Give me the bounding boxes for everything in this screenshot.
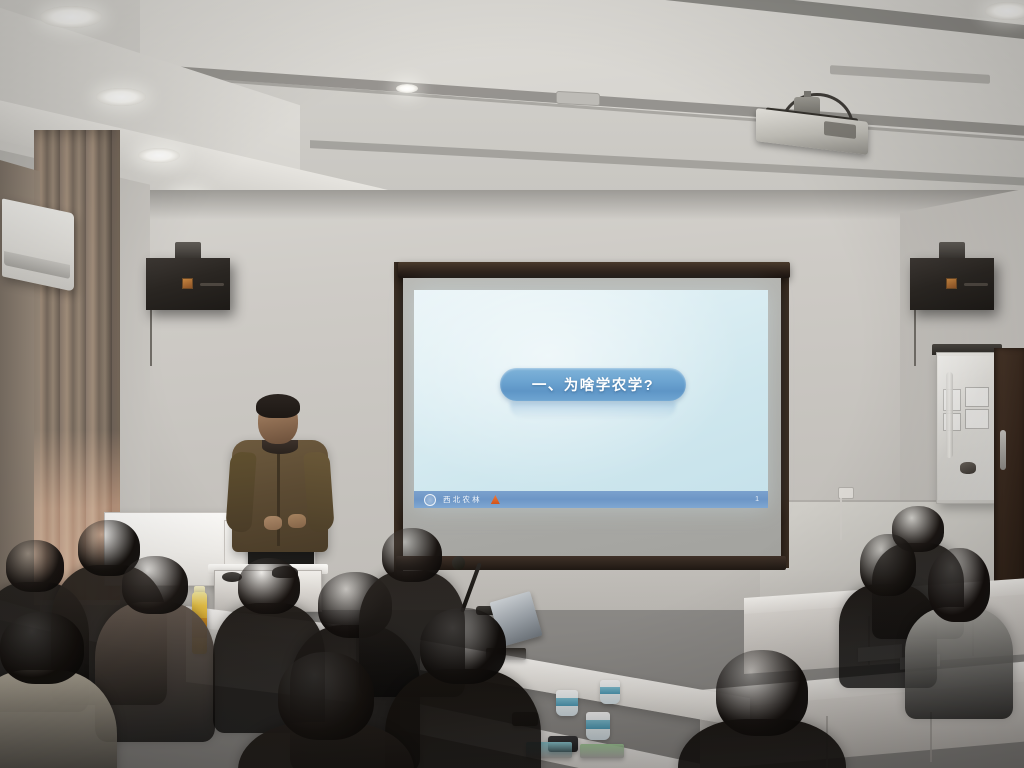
downlight xyxy=(138,148,180,163)
speaker-grille-slot xyxy=(964,283,988,286)
presenter-hair xyxy=(256,394,300,418)
slide-heading-text: 一、为啥学农学? xyxy=(532,374,654,395)
slide-page-number: 1 xyxy=(755,496,759,503)
cabinet-handle[interactable] xyxy=(960,462,976,474)
speaker-led-indicator xyxy=(946,278,957,289)
student-head xyxy=(382,528,442,582)
student-head xyxy=(278,652,374,740)
ceiling-air-vent xyxy=(556,91,600,106)
speaker-cable xyxy=(150,310,152,366)
outlet-cable xyxy=(840,498,842,540)
downlight xyxy=(985,2,1024,20)
student-head xyxy=(0,612,84,684)
classroom-photo-scene: 一、为啥学农学? 西北农林 1 xyxy=(0,0,1024,768)
projected-slide: 一、为啥学农学? 西北农林 1 xyxy=(414,290,768,508)
cabinet-glass-reflection xyxy=(938,356,996,500)
slide-pill-reflection xyxy=(510,402,676,419)
presenter-right-arm xyxy=(303,451,335,533)
ceiling-recess-band xyxy=(310,140,1024,188)
downlight xyxy=(396,84,418,93)
presenter-right-hand xyxy=(288,514,306,528)
presenter-left-hand xyxy=(264,516,282,530)
desk-divider xyxy=(930,712,932,762)
student-head xyxy=(420,608,506,684)
student-head xyxy=(122,556,188,614)
roller-screen-housing xyxy=(398,262,790,278)
student-head xyxy=(6,540,64,592)
screen-frame-right xyxy=(780,262,789,568)
university-seal-logo xyxy=(424,494,436,506)
student-head xyxy=(238,558,300,614)
student-torso xyxy=(905,607,1013,719)
cup-pattern-band xyxy=(600,687,620,694)
student-head xyxy=(928,548,990,622)
ceiling-projector xyxy=(750,95,880,155)
red-triangle-mark xyxy=(491,495,500,504)
wall-top-shadow xyxy=(0,190,1024,220)
downlight xyxy=(96,88,146,106)
wall-speaker-right xyxy=(910,258,994,310)
presenter-jacket-zipper xyxy=(277,446,280,546)
cup-pattern-band xyxy=(586,720,610,728)
wall-speaker-left xyxy=(146,258,230,310)
slide-footer-bar: 西北农林 1 xyxy=(414,491,768,508)
speaker-cable xyxy=(914,310,916,366)
student-head xyxy=(860,534,916,596)
door-handle[interactable] xyxy=(1000,430,1006,470)
downlight xyxy=(40,6,102,28)
notebook[interactable] xyxy=(580,744,624,758)
presenter-left-arm xyxy=(225,451,257,533)
speaker-led-indicator xyxy=(182,278,193,289)
student-head xyxy=(716,650,808,736)
screen-frame-left xyxy=(394,262,403,574)
slide-heading-pill: 一、为啥学农学? xyxy=(500,368,686,401)
speaker-grille-slot xyxy=(200,283,224,286)
cup-pattern-band xyxy=(556,698,578,706)
slide-footer-institution-text: 西北农林 xyxy=(443,494,482,505)
microphone-head xyxy=(452,556,465,570)
